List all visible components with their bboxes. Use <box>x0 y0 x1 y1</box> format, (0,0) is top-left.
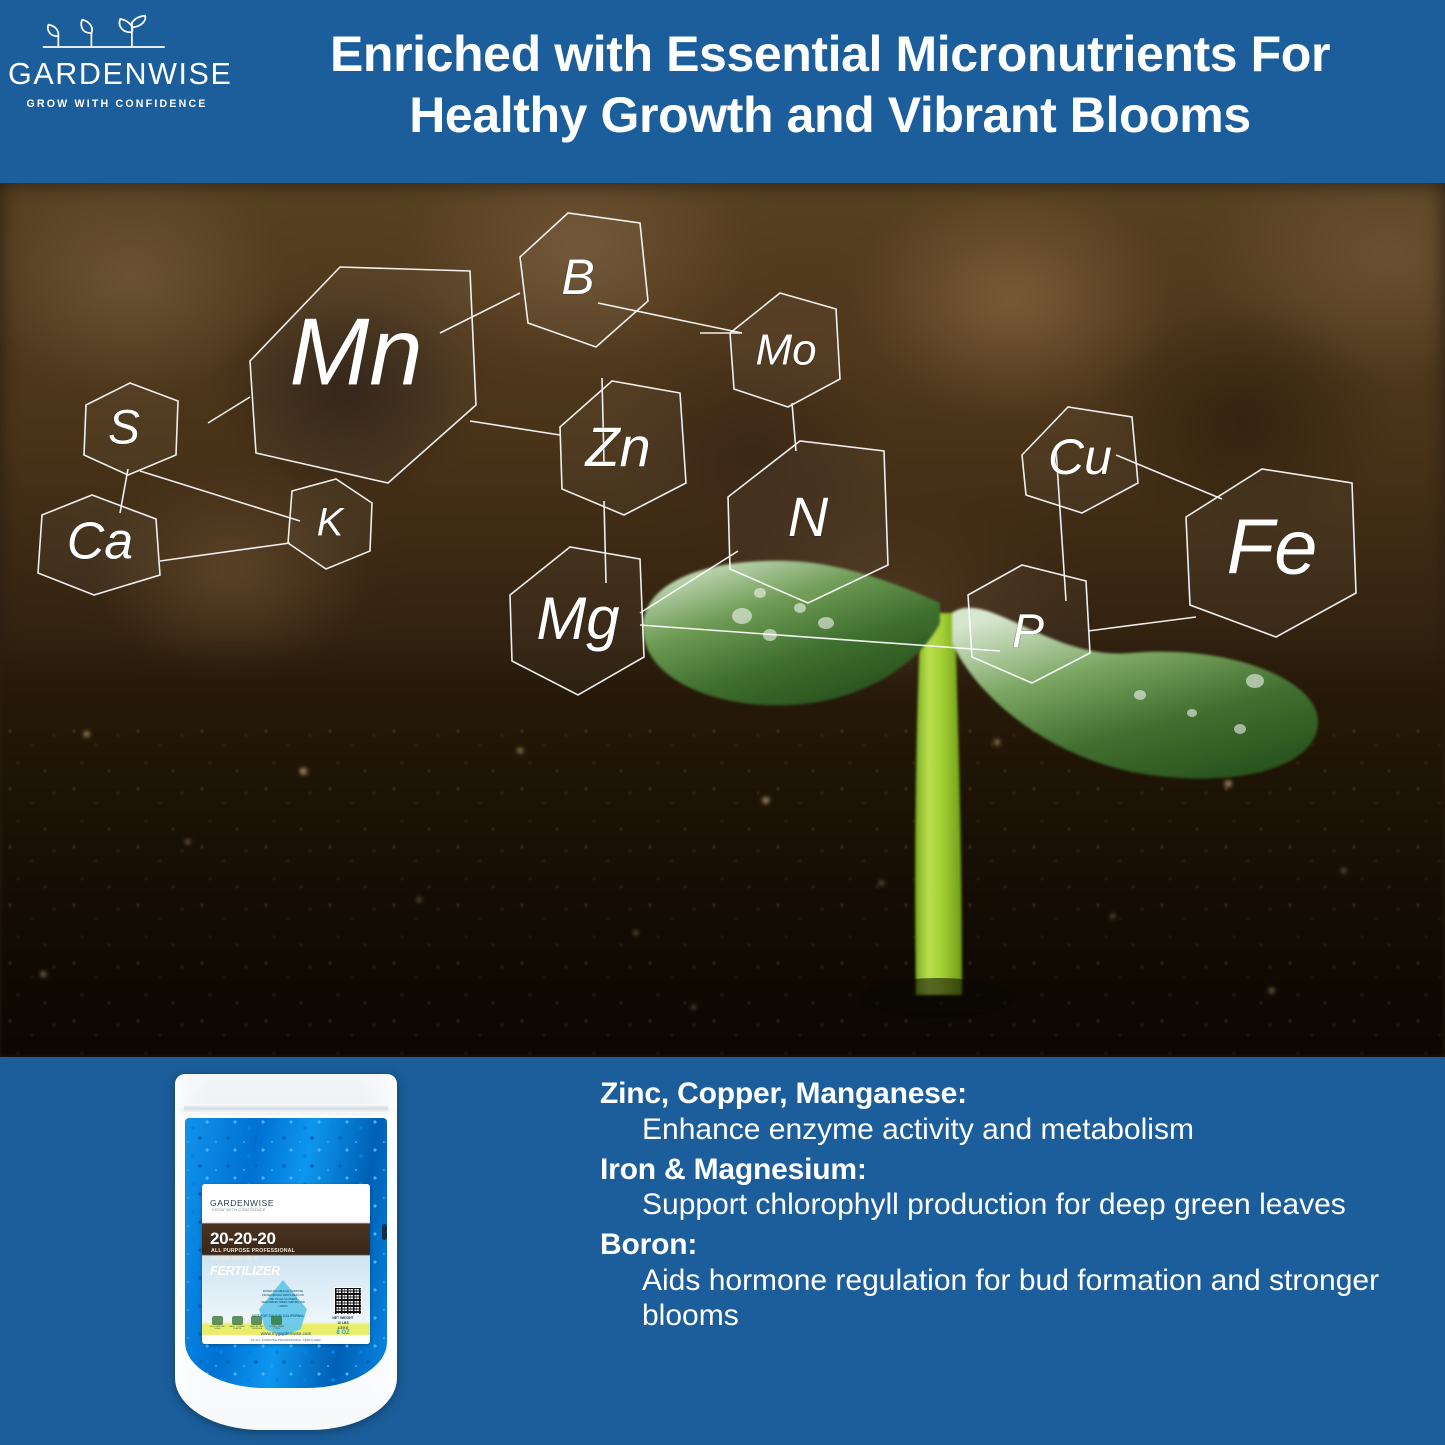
hex-label-cu: Cu <box>1048 429 1112 485</box>
hex-label-mo: Mo <box>755 326 816 375</box>
hex-label-p: P <box>1012 606 1044 659</box>
hex-label-fe: Fe <box>1226 503 1317 591</box>
package-footer: #1 ALL PURPOSE PROFESSIONAL FERTILIZER <box>202 1338 370 1342</box>
hero-photo: S Ca K Mn B Zn Mo N Mg Cu P Fe <box>0 183 1445 1057</box>
hex-label-mg: Mg <box>536 585 619 652</box>
icon-caption-0: ALL PURPOSE USES <box>210 1326 225 1330</box>
all-purpose-icon: ALL PURPOSE USES <box>210 1316 225 1331</box>
package-brand: GARDENWISE <box>210 1198 274 1208</box>
benefit-heading: Boron: <box>600 1228 1400 1262</box>
benefit-body: Support chlorophyll production for deep … <box>642 1187 1400 1222</box>
brand-wordmark: GARDENWISE <box>8 59 226 90</box>
benefit-heading: Zinc, Copper, Manganese: <box>600 1077 1400 1111</box>
hex-label-n: N <box>788 485 829 548</box>
hex-label-s: S <box>108 402 140 455</box>
nutrient-hexagon-network: S Ca K Mn B Zn Mo N Mg Cu P Fe <box>0 183 1445 1057</box>
package-net-weight: NET WEIGHT 10 LBS 4.5 KG <box>324 1316 362 1331</box>
product-package-image: GARDENWISE GROW WITH CONFIDENCE 20-20-20… <box>175 1074 397 1430</box>
fast-acting-icon: FAST ACTING FORMULA <box>249 1316 264 1331</box>
package-url: www.mygardenwise.com <box>202 1331 370 1336</box>
package-desc-1: ALL PURPOSE PROFESSIONAL <box>211 1248 295 1254</box>
package-label: GARDENWISE GROW WITH CONFIDENCE 20-20-20… <box>202 1184 370 1344</box>
benefit-body: Aids hormone regulation for bud formatio… <box>642 1263 1400 1333</box>
package-zipper <box>184 1104 388 1113</box>
hex-label-ca: Ca <box>67 513 133 571</box>
icon-caption-1: EASY TO FEED PLANTS <box>230 1326 245 1330</box>
icon-caption-3: FOR ALL LAWN TYPES <box>269 1326 284 1330</box>
seedling-sprout-icon <box>22 14 212 52</box>
brand-logo: GARDENWISE GROW WITH CONFIDENCE <box>8 14 226 110</box>
brand-tagline: GROW WITH CONFIDENCE <box>8 98 226 110</box>
title-line-1: Enriched with Essential Micronutrients F… <box>232 24 1428 85</box>
hex-label-k: K <box>317 501 346 545</box>
package-feature-icons: ALL PURPOSE USES EASY TO FEED PLANTS FAS… <box>210 1316 284 1332</box>
hex-label-zn: Zn <box>583 415 650 478</box>
package-npk: 20-20-20 <box>210 1229 276 1249</box>
product-infographic: GARDENWISE GROW WITH CONFIDENCE Enriched… <box>0 0 1445 1445</box>
qr-code-icon <box>334 1287 362 1315</box>
package-tear-notch <box>382 1224 387 1240</box>
lawn-icon: FOR ALL LAWN TYPES <box>269 1316 284 1331</box>
package-brand-sub: GROW WITH CONFIDENCE <box>212 1208 266 1212</box>
package-desc-2: WATER SOLUBLE <box>211 1256 258 1262</box>
benefit-body: Enhance enzyme activity and metabolism <box>642 1112 1400 1147</box>
benefit-heading: Iron & Magnesium: <box>600 1153 1400 1187</box>
easy-feed-icon: EASY TO FEED PLANTS <box>230 1316 245 1331</box>
benefit-item: Zinc, Copper, Manganese: Enhance enzyme … <box>600 1077 1400 1147</box>
title-line-2: Healthy Growth and Vibrant Blooms <box>232 85 1428 146</box>
benefit-item: Boron: Aids hormone regulation for bud f… <box>600 1228 1400 1333</box>
icon-caption-2: FAST ACTING FORMULA <box>249 1326 264 1330</box>
hex-label-mn: Mn <box>289 298 422 405</box>
header-banner: GARDENWISE GROW WITH CONFIDENCE Enriched… <box>0 0 1445 183</box>
hex-label-b: B <box>561 249 594 305</box>
benefit-item: Iron & Magnesium: Support chlorophyll pr… <box>600 1153 1400 1223</box>
package-drop-text: WATER SOLUBLE ALL PURPOSE PROFESSIONAL F… <box>260 1290 306 1309</box>
page-title: Enriched with Essential Micronutrients F… <box>232 24 1428 146</box>
benefits-list: Zinc, Copper, Manganese: Enhance enzyme … <box>600 1077 1400 1333</box>
package-type: FERTILIZER <box>210 1264 280 1278</box>
